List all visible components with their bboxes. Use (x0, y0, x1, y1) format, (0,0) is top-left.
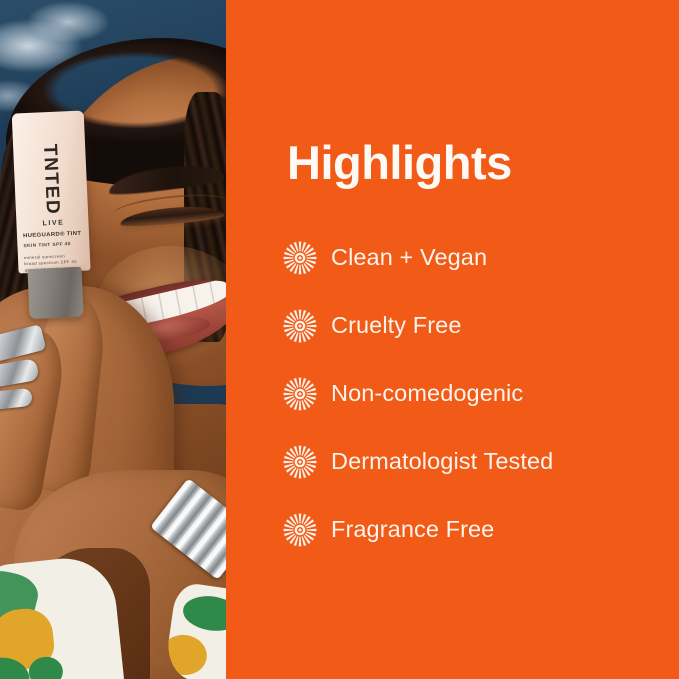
product-highlights-banner: TNTED LIVE HUEGUARD® TINT SKIN TINT SPF … (0, 0, 679, 679)
list-item-label: Fragrance Free (331, 517, 494, 543)
list-item-label: Dermatologist Tested (331, 449, 553, 475)
sunburst-icon (283, 377, 317, 411)
tube-sub-brand-label: LIVE (42, 219, 64, 227)
tube-body: TNTED LIVE HUEGUARD® TINT SKIN TINT SPF … (12, 111, 91, 274)
tube-claim-secondary: broad spectrum SPF 40 (24, 259, 88, 266)
page-title: Highlights (287, 139, 512, 186)
list-item-label: Clean + Vegan (331, 245, 487, 271)
tube-brand-label: TNTED (12, 127, 88, 234)
list-item-label: Non-comedogenic (331, 381, 523, 407)
product-lifestyle-photo: TNTED LIVE HUEGUARD® TINT SKIN TINT SPF … (0, 0, 226, 679)
list-item: Fragrance Free (283, 496, 663, 564)
product-tube: TNTED LIVE HUEGUARD® TINT SKIN TINT SPF … (12, 111, 93, 314)
list-item: Dermatologist Tested (283, 428, 663, 496)
list-item: Non-comedogenic (283, 360, 663, 428)
sunburst-icon (283, 309, 317, 343)
tube-cap (27, 267, 83, 319)
sunburst-icon (283, 513, 317, 547)
tube-descriptor: SKIN TINT SPF 40 (23, 241, 87, 249)
highlights-list: Clean + Vegan Cruelty Free Non-comedogen… (283, 224, 663, 564)
sunburst-icon (283, 445, 317, 479)
list-item: Clean + Vegan (283, 224, 663, 292)
shirt-pattern-blob (181, 593, 226, 635)
list-item: Cruelty Free (283, 292, 663, 360)
shirt-pattern-blob (164, 632, 210, 678)
list-item-label: Cruelty Free (331, 313, 461, 339)
sunburst-icon (283, 241, 317, 275)
highlights-panel: Highlights Clean + Vegan Cruelty Free No… (226, 0, 679, 679)
